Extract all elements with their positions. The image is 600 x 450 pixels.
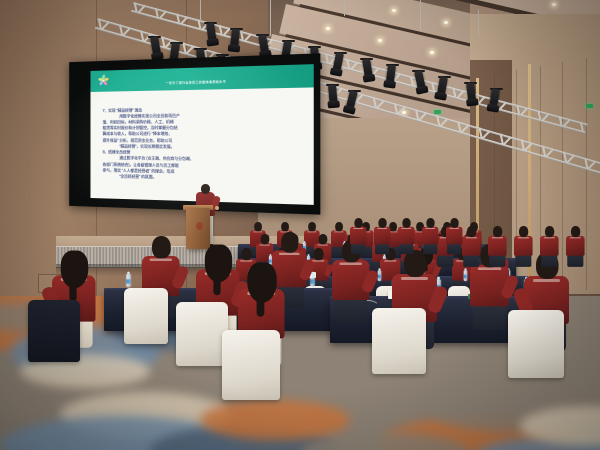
- carpet-pattern-swirl: [200, 400, 350, 440]
- attendee-head: [319, 234, 328, 244]
- bottle-label: [126, 279, 130, 283]
- attendee-collar-trim: [544, 237, 555, 238]
- attendee-collar-trim: [425, 228, 435, 229]
- attendee-collar-trim: [353, 228, 363, 229]
- attendee-head: [308, 222, 316, 231]
- attendee-head: [571, 226, 580, 237]
- attendee-ponytail: [213, 272, 220, 295]
- attendee-collar-trim: [259, 244, 269, 245]
- attendee-collar-trim: [253, 231, 262, 232]
- attendee-head: [493, 226, 502, 237]
- truss-drop-rod: [200, 0, 201, 22]
- attendee-collar-trim: [401, 277, 428, 280]
- attendee-polo-shirt: [540, 236, 559, 256]
- seat-chair[interactable]: [372, 308, 426, 374]
- bottle-label: [464, 275, 468, 279]
- lectern-emblem: [196, 222, 203, 230]
- attendee-head: [313, 248, 323, 260]
- attendee-collar-trim: [317, 244, 327, 245]
- seat-chair[interactable]: [124, 288, 168, 344]
- water-bottle: [126, 274, 130, 287]
- attendee-head: [261, 234, 270, 244]
- attendee-collar-trim: [449, 228, 459, 229]
- truss-drop-rod: [344, 0, 345, 16]
- attendee-collar-trim: [340, 263, 363, 266]
- attendee-collar-trim: [492, 237, 503, 238]
- attendee-collar-trim: [570, 237, 581, 238]
- truss-drop-rod: [420, 0, 421, 30]
- exit-sign: [434, 110, 441, 114]
- truss-drop-rod: [478, 10, 479, 36]
- attendee-head: [254, 222, 262, 231]
- slide-band-title: 一切为了提升全体员工的整体素质和水平: [166, 78, 226, 84]
- attendee-polo-shirt: [566, 236, 585, 256]
- stage-light-fixture: [230, 29, 240, 50]
- water-bottle: [310, 274, 314, 287]
- exit-sign: [586, 104, 593, 108]
- presenter-head: [201, 184, 210, 194]
- attendee-collar-trim: [384, 260, 396, 261]
- attendee-head: [281, 232, 298, 253]
- attendee-head: [241, 248, 251, 260]
- slide-header-band: 一切为了提升全体员工的整体素质和水平: [90, 64, 313, 92]
- attendee-collar-trim: [478, 267, 501, 270]
- seat-chair[interactable]: [28, 300, 80, 362]
- attendee-polo-shirt: [462, 236, 481, 256]
- attendee-polo-shirt: [398, 227, 415, 245]
- presenter-hand: [215, 206, 219, 210]
- attendee-ponytail: [257, 292, 265, 317]
- attendee-head: [378, 218, 386, 228]
- water-bottle: [464, 271, 468, 282]
- attendee-head: [519, 226, 528, 237]
- stage-light-fixture: [328, 85, 338, 106]
- attendee-head: [335, 222, 343, 231]
- bottle-label: [310, 279, 314, 283]
- attendee-head: [545, 226, 554, 237]
- attendee-polo-shirt: [514, 236, 533, 256]
- attendee-polo-shirt: [446, 227, 463, 245]
- conference-hall-photo: 一切为了提升全体员工的整体素质和水平 7、实现 “精益经营” 理念用数字化经营实…: [0, 0, 600, 450]
- attendee-collar-trim: [307, 231, 316, 232]
- attendee-collar-trim: [150, 259, 173, 262]
- stage-light-fixture: [386, 65, 396, 86]
- attendee-polo-shirt: [374, 227, 391, 245]
- seat-chair[interactable]: [222, 330, 280, 400]
- attendee-polo-shirt: [350, 227, 367, 245]
- attendee-collar-trim: [334, 231, 343, 232]
- attendee-head: [402, 218, 410, 228]
- attendee-head: [354, 218, 362, 228]
- attendee-collar-trim: [377, 228, 387, 229]
- attendee-collar-trim: [401, 228, 411, 229]
- seat-chair[interactable]: [508, 310, 564, 378]
- attendee-head: [467, 226, 476, 237]
- attendee-polo-shirt: [488, 236, 507, 256]
- attendee-head: [281, 222, 289, 231]
- attendee-collar-trim: [518, 237, 529, 238]
- attendee-collar-trim: [279, 253, 300, 255]
- wall-panel-seam: [562, 62, 563, 288]
- pinwheel-flower-logo: [97, 73, 111, 88]
- seat-chair[interactable]: [176, 302, 228, 366]
- attendee-collar-trim: [466, 237, 477, 238]
- stage-light-fixture: [489, 88, 500, 109]
- attendee-head: [426, 218, 434, 228]
- attendee-collar-trim: [533, 279, 560, 282]
- truss-drop-rod: [270, 0, 271, 36]
- wall-panel-seam: [586, 58, 587, 290]
- attendee-collar-trim: [240, 260, 252, 261]
- attendee-head: [152, 236, 171, 259]
- attendee-head: [450, 218, 458, 228]
- projection-screen-bezel: 一切为了提升全体员工的整体素质和水平 7、实现 “精益经营” 理念用数字化经营实…: [69, 53, 320, 214]
- attendee-polo-shirt: [422, 227, 439, 245]
- attendee-ponytail: [69, 278, 76, 301]
